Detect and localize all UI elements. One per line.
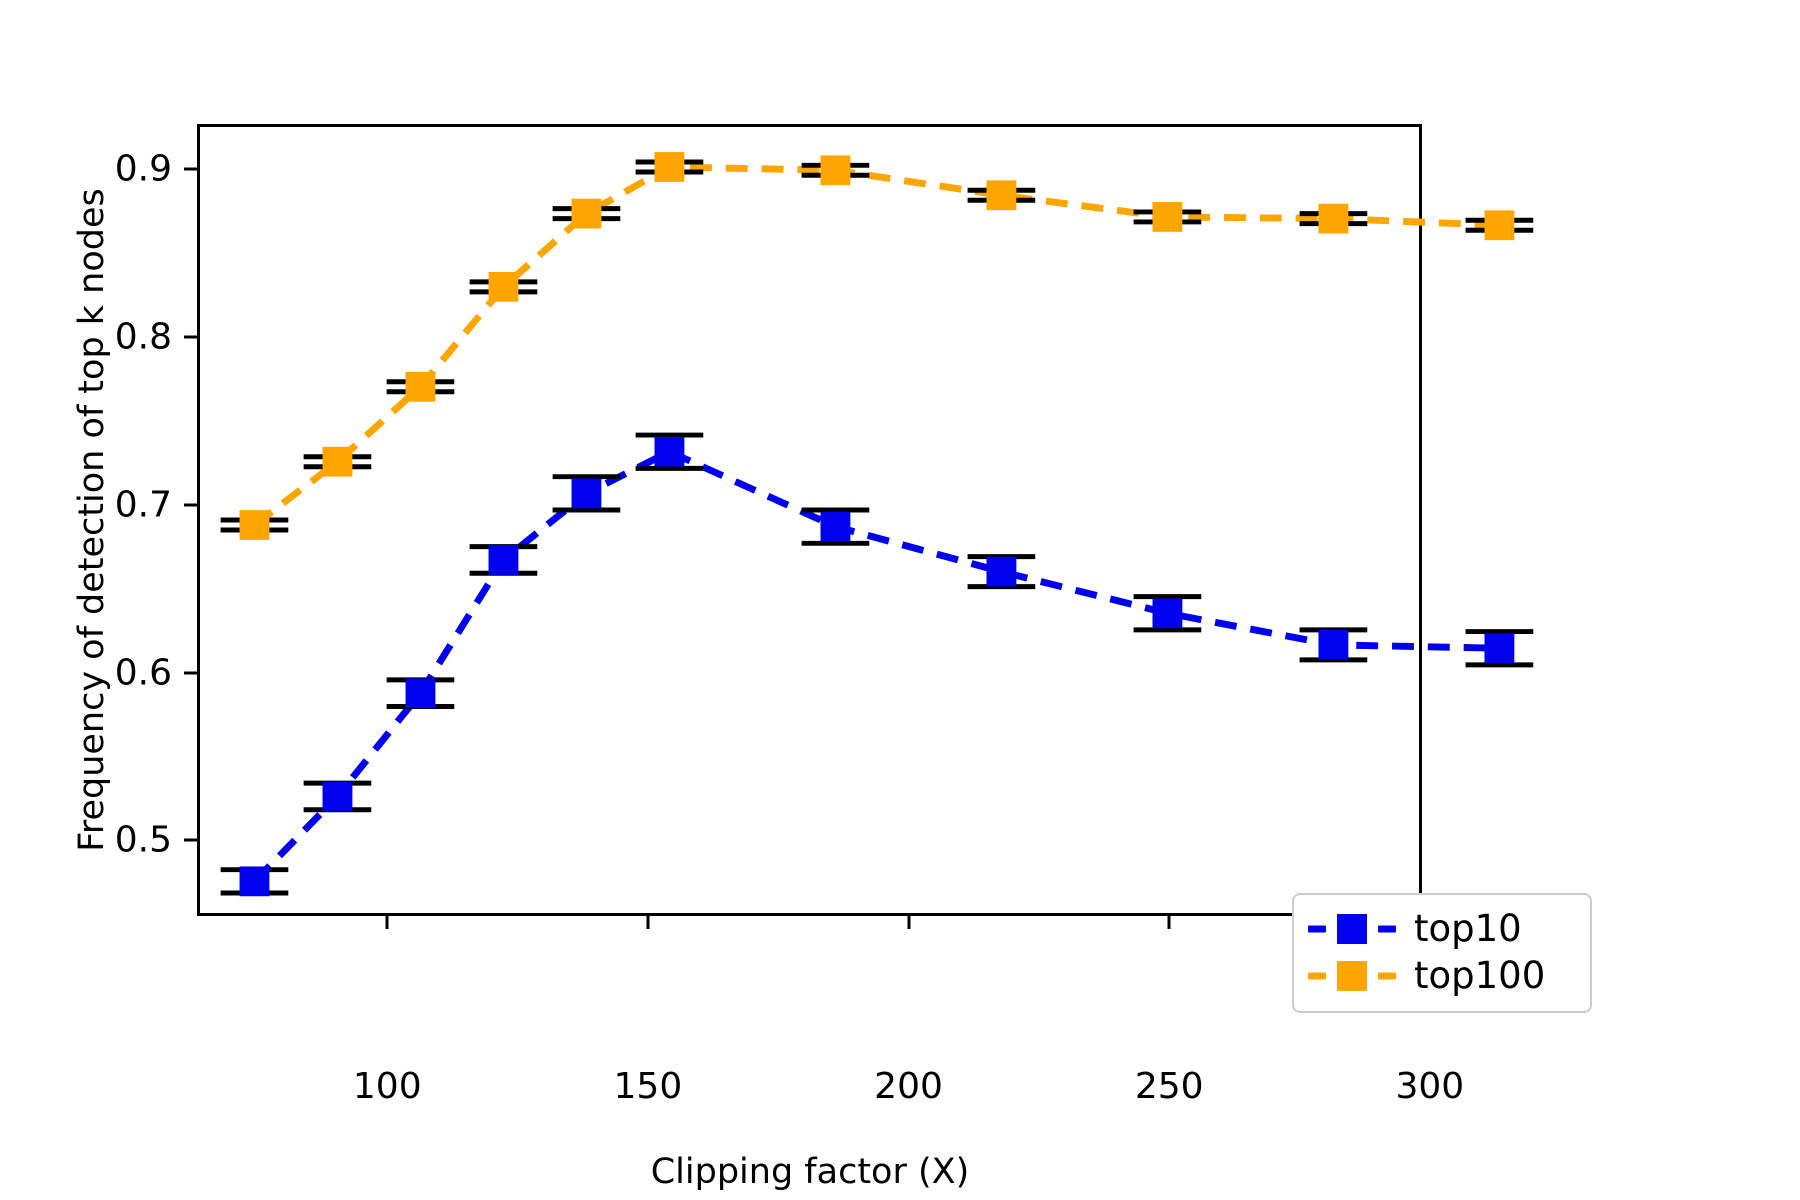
plot-canvas: [200, 127, 1419, 913]
x-tick-mark: [1168, 916, 1171, 929]
y-tick-mark: [184, 168, 197, 171]
series-line: [254, 167, 1499, 525]
x-tick-mark: [907, 916, 910, 929]
data-point-marker: [821, 155, 851, 185]
data-point-marker: [406, 372, 436, 402]
data-point-marker: [323, 782, 353, 812]
legend-square-marker-icon: [1337, 914, 1367, 944]
x-tick-label: 250: [1135, 1066, 1204, 1107]
x-tick-label: 150: [614, 1066, 683, 1107]
y-tick-label: 0.8: [115, 317, 172, 358]
y-tick-label: 0.7: [115, 484, 172, 525]
chart-root: Frequency of detection of top k nodes Cl…: [0, 0, 1800, 1200]
data-point-marker: [655, 437, 685, 467]
series-top100: [254, 167, 1499, 525]
data-point-marker: [1318, 204, 1348, 234]
data-point-marker: [1152, 598, 1182, 628]
legend-dash-left-icon: [1308, 972, 1326, 979]
x-tick-mark: [386, 916, 389, 929]
plot-area: [197, 124, 1422, 916]
legend-label-top100: top100: [1414, 954, 1545, 997]
markers-top10: [240, 437, 1515, 896]
legend-dash-right-icon: [1378, 925, 1396, 932]
data-point-marker: [987, 180, 1017, 210]
data-point-marker: [323, 447, 353, 477]
y-tick-label: 0.6: [115, 652, 172, 693]
data-point-marker: [1484, 633, 1514, 663]
x-tick-label-group: 100150200250300: [0, 1066, 1800, 1116]
y-tick-label: 0.9: [115, 149, 172, 190]
x-tick-mark: [646, 916, 649, 929]
data-point-marker: [240, 866, 270, 896]
y-tick-label-group: 0.50.60.70.80.9: [0, 0, 172, 1200]
data-point-marker: [655, 152, 685, 182]
data-point-marker: [821, 512, 851, 542]
legend-dash-right-icon: [1378, 972, 1396, 979]
y-tick-mark: [184, 336, 197, 339]
data-point-marker: [489, 545, 519, 575]
series-line: [254, 452, 1499, 882]
data-point-marker: [987, 557, 1017, 587]
data-point-marker: [572, 199, 602, 229]
x-tick-label: 300: [1395, 1066, 1464, 1107]
y-tick-label: 0.5: [115, 820, 172, 861]
legend-swatch-top10: [1308, 909, 1396, 949]
errorbars-top10: [221, 435, 1534, 893]
legend-label-top10: top10: [1414, 907, 1522, 950]
x-axis-label: Clipping factor (X): [651, 1152, 970, 1192]
legend-dash-left-icon: [1308, 925, 1326, 932]
data-point-marker: [489, 272, 519, 302]
x-tick-label: 200: [874, 1066, 943, 1107]
data-point-marker: [1152, 202, 1182, 232]
data-point-marker: [1484, 210, 1514, 240]
legend[interactable]: top10 top100: [1292, 893, 1592, 1013]
y-tick-mark: [184, 671, 197, 674]
markers-top100: [240, 152, 1515, 540]
data-point-marker: [572, 478, 602, 508]
series-top10: [254, 452, 1499, 882]
legend-swatch-top100: [1308, 956, 1396, 996]
data-point-marker: [1318, 630, 1348, 660]
data-point-marker: [406, 678, 436, 708]
legend-entry-top10[interactable]: top10: [1308, 905, 1576, 952]
y-tick-mark: [184, 839, 197, 842]
legend-square-marker-icon: [1337, 961, 1367, 991]
legend-entry-top100[interactable]: top100: [1308, 952, 1576, 999]
data-point-marker: [240, 510, 270, 540]
x-tick-label: 100: [353, 1066, 422, 1107]
y-tick-mark: [184, 503, 197, 506]
